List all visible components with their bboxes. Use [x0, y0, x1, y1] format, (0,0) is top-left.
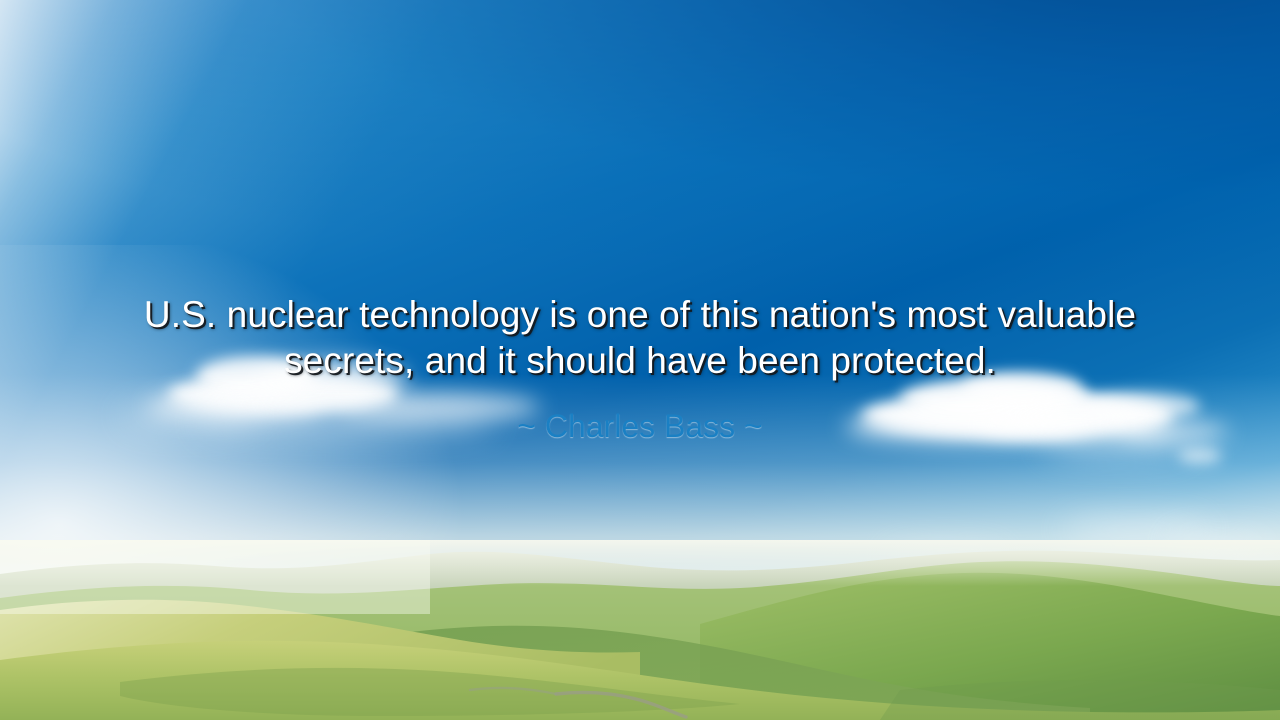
quote-block: U.S. nuclear technology is one of this n… [0, 292, 1280, 445]
quote-author: ~ Charles Bass ~ [70, 407, 1210, 445]
cloud-icon [1178, 448, 1222, 464]
quote-text: U.S. nuclear technology is one of this n… [70, 292, 1210, 384]
cloud-icon [1060, 520, 1210, 538]
landscape-hills [0, 540, 1280, 720]
quote-card: U.S. nuclear technology is one of this n… [0, 0, 1280, 720]
